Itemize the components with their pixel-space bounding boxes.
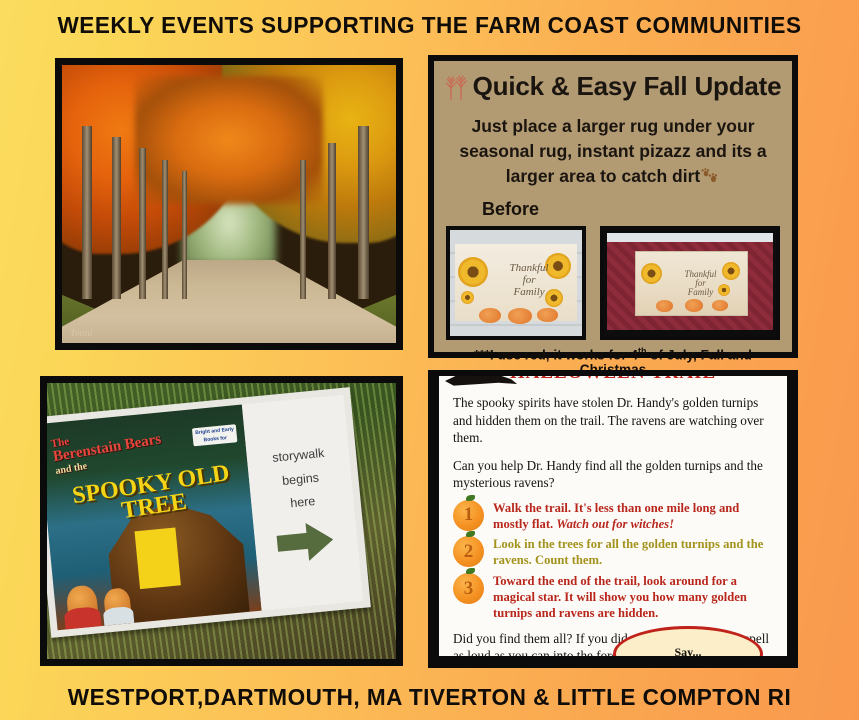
rug-script-text: Thankful for Family — [500, 263, 558, 298]
right-arrow-icon — [276, 519, 338, 564]
book-cover: The Berenstain Bears and the SPOOKY OLD … — [47, 405, 262, 631]
sunflower-motif — [461, 291, 474, 304]
trail-paragraph-2: Can you help Dr. Handy find all the gold… — [453, 457, 773, 492]
trail-step-text: Toward the end of the trail, look around… — [493, 573, 773, 622]
pumpkin-motif — [479, 308, 501, 323]
autumn-road-scene: Tonni — [62, 65, 396, 343]
raven-icon — [445, 370, 517, 390]
card-fall-body: Just place a larger rug under your seaso… — [444, 114, 782, 189]
bear-body — [103, 606, 134, 626]
storywalk-word-2: begins — [281, 467, 320, 494]
trail-paragraph-1: The spooky spirits have stolen Dr. Handy… — [453, 394, 773, 447]
pumpkin-motif — [685, 299, 703, 312]
card-fall-update: Quick & Easy Fall Update Just place a la… — [428, 55, 798, 358]
card-fall-title-row: Quick & Easy Fall Update — [444, 71, 782, 102]
trail-steps-list: 1 Walk the trail. It's less than one mil… — [453, 500, 773, 622]
rug-comparison-row: Thankful for Family Thankful for Family — [444, 226, 782, 340]
storywalk-scene: The Berenstain Bears and the SPOOKY OLD … — [47, 383, 396, 659]
trail-step-plain: Toward the end of the trail, look around… — [493, 574, 747, 620]
tree-trunk — [328, 143, 336, 299]
page-headline: WEEKLY EVENTS SUPPORTING THE FARM COAST … — [17, 12, 842, 39]
rug-script-text: Thankful for Family — [676, 270, 725, 298]
photo-watermark: Tonni — [70, 328, 92, 339]
pumpkin-number-icon: 3 — [453, 573, 484, 604]
porch-edge — [607, 233, 773, 242]
tree-trunk — [162, 160, 168, 299]
tree-trunk — [112, 137, 121, 298]
page-footer: WESTPORT,DARTMOUTH, MA TIVERTON & LITTLE… — [17, 684, 842, 711]
trail-step: 2 Look in the trees for all the golden t… — [453, 536, 773, 569]
card-fall-body-text: Just place a larger rug under your seaso… — [459, 116, 766, 186]
photo-rug-after: Thankful for Family — [600, 226, 780, 340]
seasonal-rug: Thankful for Family — [635, 251, 749, 317]
sunflower-motif — [458, 257, 488, 287]
photo-autumn-road: Tonni — [55, 58, 403, 350]
tree-trunk — [82, 126, 92, 298]
pumpkin-motif — [712, 300, 728, 311]
trail-step-text: Look in the trees for all the golden tur… — [493, 536, 773, 569]
tree-trunk — [139, 148, 146, 298]
storywalk-sign-board: The Berenstain Bears and the SPOOKY OLD … — [47, 387, 371, 638]
photo-rug-before: Thankful for Family — [446, 226, 586, 340]
pumpkin-motif — [537, 308, 558, 322]
autumn-leaf-icon — [445, 74, 469, 100]
trail-step-italic: Watch out for witches! — [556, 517, 674, 531]
card-fall-title: Quick & Easy Fall Update — [473, 71, 782, 102]
before-label: Before — [444, 199, 782, 220]
pumpkin-number-icon: 1 — [453, 500, 484, 531]
pumpkin-motif — [508, 308, 532, 324]
trail-flyer-sheet: HALLOWEEN TRAIL The spooky spirits have … — [439, 370, 787, 656]
bear-body — [64, 606, 102, 629]
pumpkin-motif — [656, 300, 673, 312]
trail-step-text: Walk the trail. It's less than one mile … — [493, 500, 773, 533]
tree-trunk — [300, 160, 306, 299]
trail-step: 3 Toward the end of the trail, look arou… — [453, 573, 773, 622]
photo-storywalk-sign: The Berenstain Bears and the SPOOKY OLD … — [40, 376, 403, 666]
sunflower-motif — [641, 263, 662, 284]
tree-trunk — [358, 126, 369, 298]
footnote-pre: ***I use red, it works for 4 — [474, 347, 638, 362]
pumpkin-number-icon: 2 — [453, 536, 484, 567]
trail-step: 1 Walk the trail. It's less than one mil… — [453, 500, 773, 533]
storywalk-word-3: here — [289, 491, 316, 517]
storywalk-directions: storywalk begins here — [242, 395, 363, 611]
lit-window-art — [135, 528, 181, 590]
tree-trunk — [182, 171, 187, 299]
card-halloween-trail: HALLOWEEN TRAIL The spooky spirits have … — [428, 370, 798, 668]
trail-step-plain: Look in the trees for all the golden tur… — [493, 537, 763, 567]
paw-print-icon — [700, 166, 720, 182]
